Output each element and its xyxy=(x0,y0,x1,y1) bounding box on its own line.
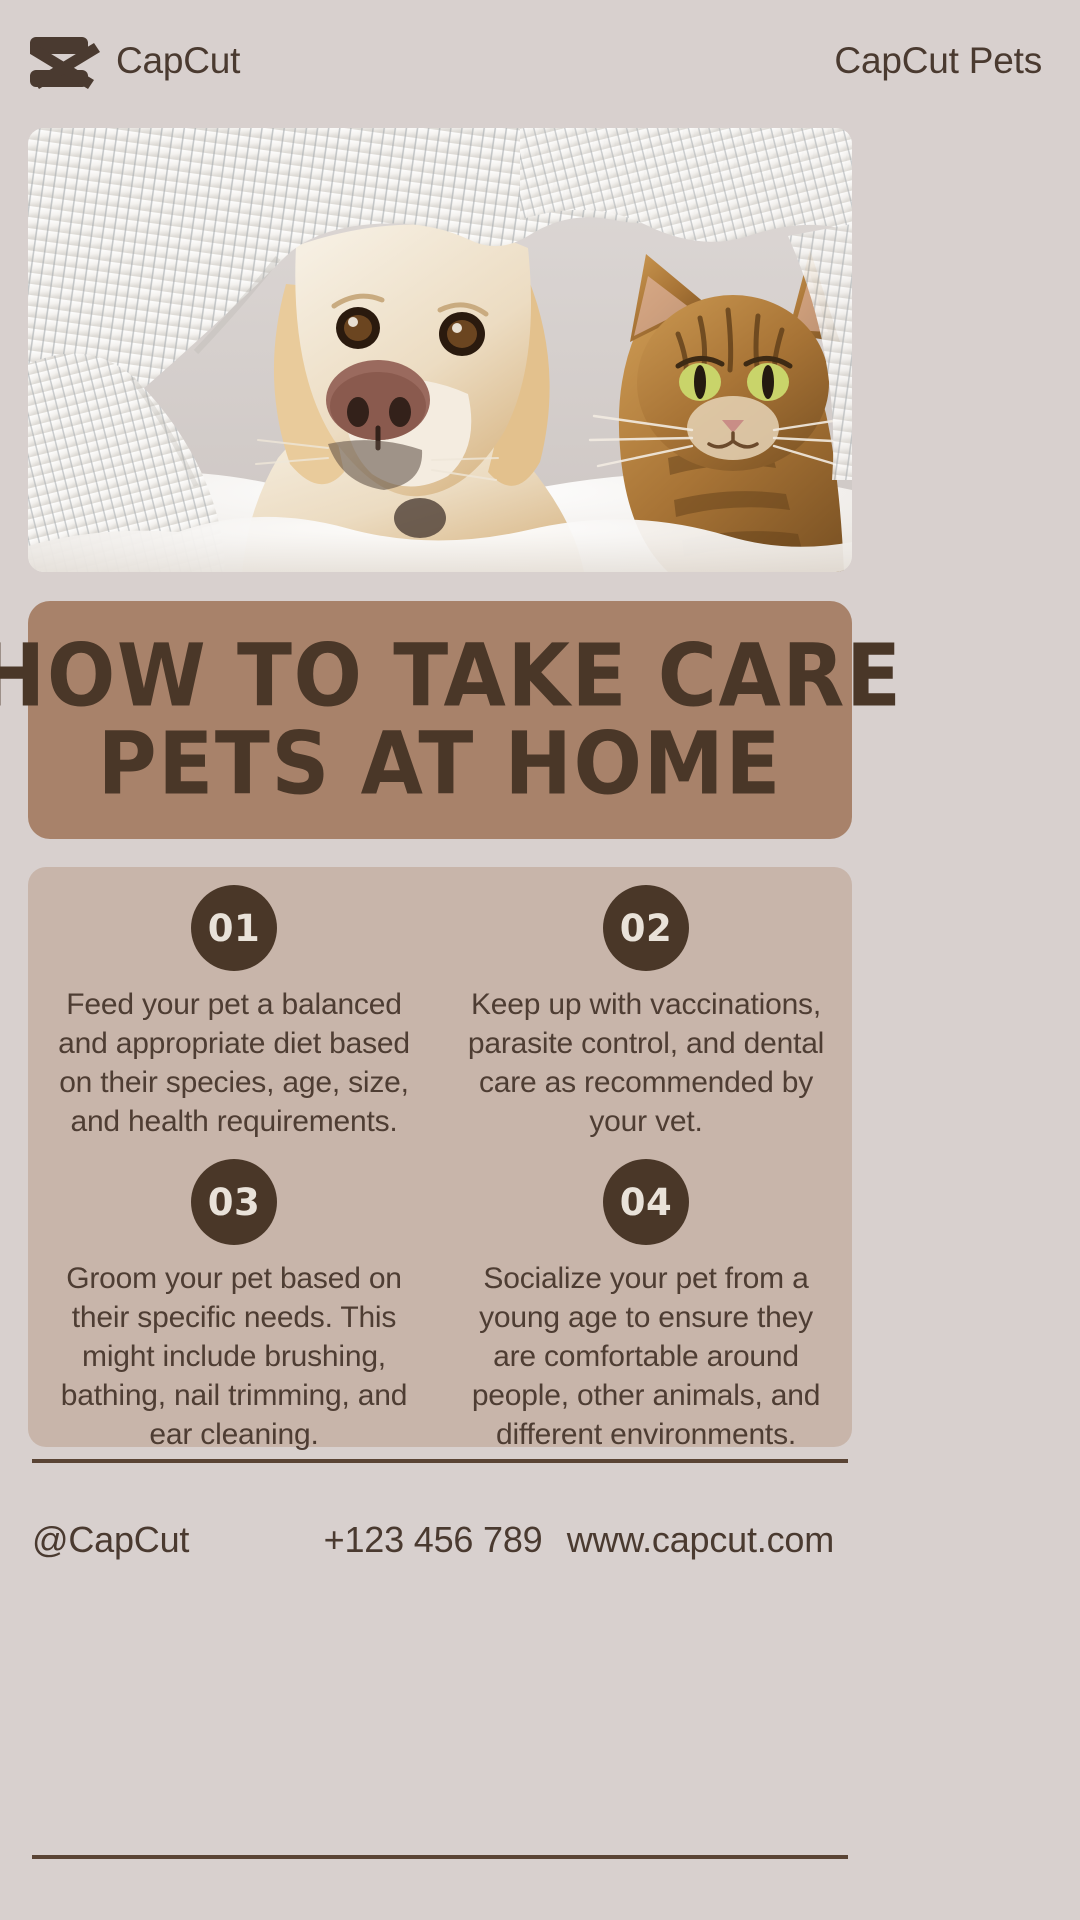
tip-item-04: 04 Socialize your pet from a young age t… xyxy=(440,1141,852,1454)
capcut-logo-icon xyxy=(30,33,100,89)
tip-item-03: 03 Groom your pet based on their specifi… xyxy=(28,1141,440,1454)
tip-number-badge: 04 xyxy=(603,1159,689,1245)
tip-number-badge: 01 xyxy=(191,885,277,971)
page-title-line-2: PETS AT HOME xyxy=(98,714,782,814)
brand-name: CapCut xyxy=(116,40,240,82)
tips-grid: 01 Feed your pet a balanced and appropri… xyxy=(28,867,852,1447)
brand-lockup[interactable]: CapCut xyxy=(30,33,240,89)
tip-item-01: 01 Feed your pet a balanced and appropri… xyxy=(28,867,440,1141)
tip-number-badge: 03 xyxy=(191,1159,277,1245)
tip-text: Groom your pet based on their specific n… xyxy=(42,1259,426,1454)
tip-number-badge: 02 xyxy=(603,885,689,971)
page-header: CapCut CapCut Pets xyxy=(0,0,1080,122)
header-right-label: CapCut Pets xyxy=(834,40,1042,82)
page-title-line-1: HOW TO TAKE CARE xyxy=(0,626,902,726)
tip-text: Keep up with vaccinations, parasite cont… xyxy=(454,985,838,1141)
hero-photo-illustration xyxy=(28,128,852,572)
footer-divider-top xyxy=(32,1459,848,1463)
footer-divider-bottom xyxy=(32,1855,848,1859)
tip-text: Feed your pet a balanced and appropriate… xyxy=(42,985,426,1141)
footer-social-handle[interactable]: @CapCut xyxy=(32,1519,324,1561)
hero-photo xyxy=(28,128,852,572)
title-banner: HOW TO TAKE CARE PETS AT HOME xyxy=(28,601,852,839)
tip-item-02: 02 Keep up with vaccinations, parasite c… xyxy=(440,867,852,1141)
tip-text: Socialize your pet from a young age to e… xyxy=(454,1259,838,1454)
footer-phone[interactable]: +123 456 789 xyxy=(324,1519,567,1561)
tips-card: 01 Feed your pet a balanced and appropri… xyxy=(28,867,852,1447)
footer-website[interactable]: www.capcut.com xyxy=(567,1519,848,1561)
footer: @CapCut +123 456 789 www.capcut.com xyxy=(32,1490,848,1590)
